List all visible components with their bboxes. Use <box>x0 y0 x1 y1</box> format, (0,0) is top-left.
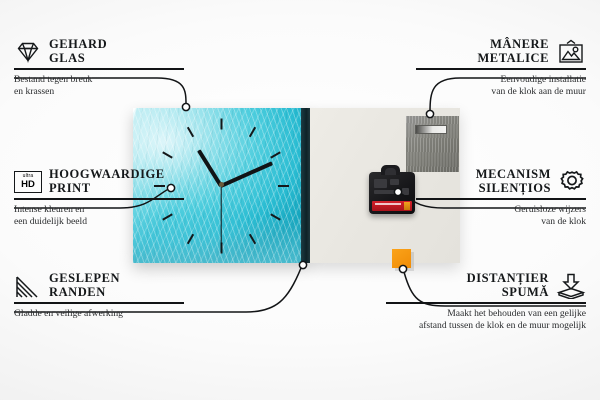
ultra-hd-icon: ultra HD <box>14 171 42 193</box>
mechanism-hang-tab <box>381 165 400 175</box>
infographic-canvas: GEHARD GLAS Bestand tegen breuk en krass… <box>0 0 600 400</box>
clock-hour-marker <box>221 118 223 129</box>
spacer-arrow-icon <box>556 273 586 299</box>
battery-label-stripe <box>375 203 401 205</box>
clock-center-pivot <box>219 182 224 187</box>
feature-geslepen-randen: GESLEPEN RANDEN Gladde en veilige afwerk… <box>14 272 184 320</box>
feature-distantier-spuma: DISTANȚIER SPUMĂ Maakt het behouden van … <box>386 272 586 332</box>
mechanism-detail <box>374 179 387 188</box>
mechanism-detail <box>390 179 399 185</box>
beveled-edge-icon <box>14 274 42 298</box>
gear-icon <box>558 169 586 195</box>
feature-header: DISTANȚIER SPUMĂ <box>386 272 586 299</box>
feature-divider <box>14 302 184 304</box>
feature-title: GEHARD GLAS <box>49 38 107 65</box>
feature-divider <box>416 68 586 70</box>
feature-description: Maakt het behouden van een gelijke afsta… <box>386 308 586 332</box>
feature-hoogwaardige-print: ultra HD HOOGWAARDIGE PRINT Intense kleu… <box>14 168 184 228</box>
foam-spacer-pad <box>392 249 411 268</box>
clock-second-hand <box>220 186 221 246</box>
feature-divider <box>416 198 586 200</box>
feature-header: MECANISM SILENȚIOS <box>416 168 586 195</box>
feature-manere-metalice: MÂNERE METALICE Eenvoudige installatie v… <box>416 38 586 98</box>
feature-gehard-glas: GEHARD GLAS Bestand tegen breuk en krass… <box>14 38 184 98</box>
feature-description: Geruisloze wijzers van de klok <box>416 204 586 228</box>
metal-hanger-plate <box>406 116 459 172</box>
feature-description: Bestand tegen breuk en krassen <box>14 74 184 98</box>
feature-title: HOOGWAARDIGE PRINT <box>49 168 165 195</box>
mechanism-detail <box>374 190 396 194</box>
feature-description: Eenvoudige installatie van de klok aan d… <box>416 74 586 98</box>
feature-mecanism-silentios: MECANISM SILENȚIOS Geruisloze wijzers va… <box>416 168 586 228</box>
feature-title: MECANISM SILENȚIOS <box>476 168 551 195</box>
feature-divider <box>14 198 184 200</box>
feature-title: GESLEPEN RANDEN <box>49 272 120 299</box>
feature-header: GESLEPEN RANDEN <box>14 272 184 299</box>
feature-description: Gladde en veilige afwerking <box>14 308 184 320</box>
feature-divider <box>14 68 184 70</box>
feature-divider <box>386 302 586 304</box>
hanging-picture-icon <box>556 39 586 65</box>
clock-mechanism <box>369 172 415 214</box>
ultra-hd-large-text: HD <box>21 180 35 190</box>
feature-title: MÂNERE METALICE <box>477 38 549 65</box>
hanger-keyhole-slot <box>415 125 447 134</box>
feature-title: DISTANȚIER SPUMĂ <box>467 272 549 299</box>
clock-hour-marker <box>278 185 289 187</box>
feature-header: GEHARD GLAS <box>14 38 184 65</box>
feature-description: Intense kleuren en een duidelijk beeld <box>14 204 184 228</box>
feature-header: MÂNERE METALICE <box>416 38 586 65</box>
diamond-icon <box>14 40 42 64</box>
feature-header: ultra HD HOOGWAARDIGE PRINT <box>14 168 184 195</box>
mechanism-detail <box>402 188 409 195</box>
clock-battery <box>372 201 412 211</box>
